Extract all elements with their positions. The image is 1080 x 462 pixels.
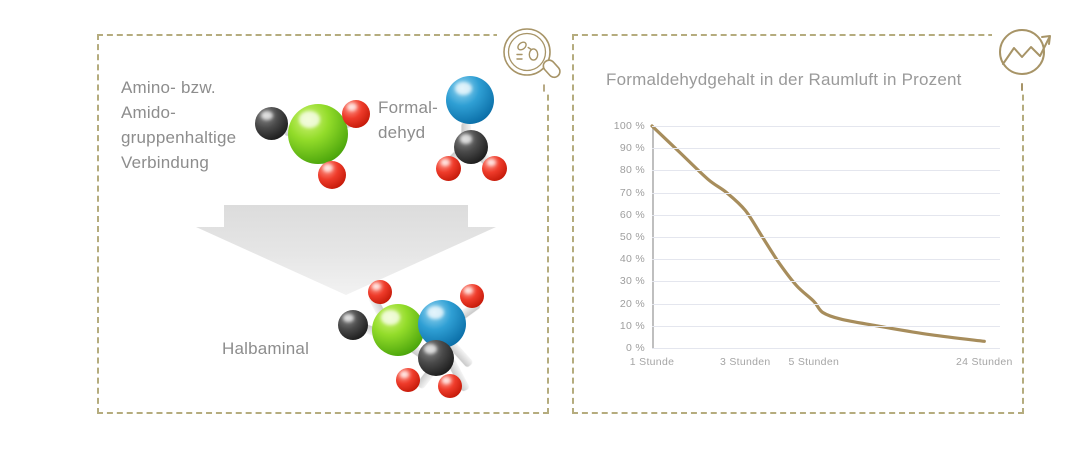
gridline xyxy=(652,259,1000,260)
y-axis-tick-label: 70 % xyxy=(620,187,645,199)
line-chart: Formaldehydgehalt in der Raumluft in Pro… xyxy=(596,62,1006,382)
atom-red xyxy=(396,368,420,392)
atom-green xyxy=(288,104,348,164)
chart-grid: 100 %90 %80 %70 %60 %50 %40 %30 %20 %10 … xyxy=(652,126,1000,348)
gridline xyxy=(652,348,1000,349)
atom-green xyxy=(372,304,424,356)
atom-red xyxy=(342,100,370,128)
x-axis-tick-label: 1 Stunde xyxy=(630,356,674,368)
atom-black xyxy=(454,130,488,164)
gridline xyxy=(652,281,1000,282)
gridline xyxy=(652,170,1000,171)
y-axis-tick-label: 20 % xyxy=(620,298,645,310)
y-axis-tick-label: 60 % xyxy=(620,209,645,221)
atom-red xyxy=(460,284,484,308)
gridline xyxy=(652,326,1000,327)
y-axis-tick-label: 10 % xyxy=(620,320,645,332)
atom-blue xyxy=(446,76,494,124)
y-axis-tick-label: 40 % xyxy=(620,253,645,265)
gridline xyxy=(652,148,1000,149)
series-path xyxy=(652,126,984,341)
y-axis-tick-label: 80 % xyxy=(620,164,645,176)
gridline xyxy=(652,126,1000,127)
x-axis-tick-label: 24 Stunden xyxy=(956,356,1013,368)
chart-title: Formaldehydgehalt in der Raumluft in Pro… xyxy=(606,70,962,90)
infographic-stage: Amino- bzw. Amido- gruppenhaltige Verbin… xyxy=(0,0,1080,462)
atom-red xyxy=(438,374,462,398)
x-axis-tick-label: 5 Stunden xyxy=(789,356,840,368)
y-axis-tick-label: 100 % xyxy=(614,120,645,132)
chart-plot-area: 100 %90 %80 %70 %60 %50 %40 %30 %20 %10 … xyxy=(604,120,1000,370)
amino-compound-molecule xyxy=(240,82,370,192)
halbaminal-molecule xyxy=(330,276,502,400)
gridline xyxy=(652,215,1000,216)
atom-black xyxy=(255,107,288,140)
y-axis-tick-label: 0 % xyxy=(626,342,645,354)
formaldehyde-molecule xyxy=(436,72,522,184)
atom-red xyxy=(368,280,392,304)
atom-black xyxy=(418,340,454,376)
atom-red xyxy=(318,161,346,189)
y-axis-tick-label: 90 % xyxy=(620,142,645,154)
atom-black xyxy=(338,310,368,340)
y-axis-tick-label: 30 % xyxy=(620,275,645,287)
x-axis-tick-label: 3 Stunden xyxy=(720,356,771,368)
atom-red xyxy=(482,156,507,181)
gridline xyxy=(652,304,1000,305)
y-axis-tick-label: 50 % xyxy=(620,231,645,243)
gridline xyxy=(652,193,1000,194)
atom-red xyxy=(436,156,461,181)
gridline xyxy=(652,237,1000,238)
